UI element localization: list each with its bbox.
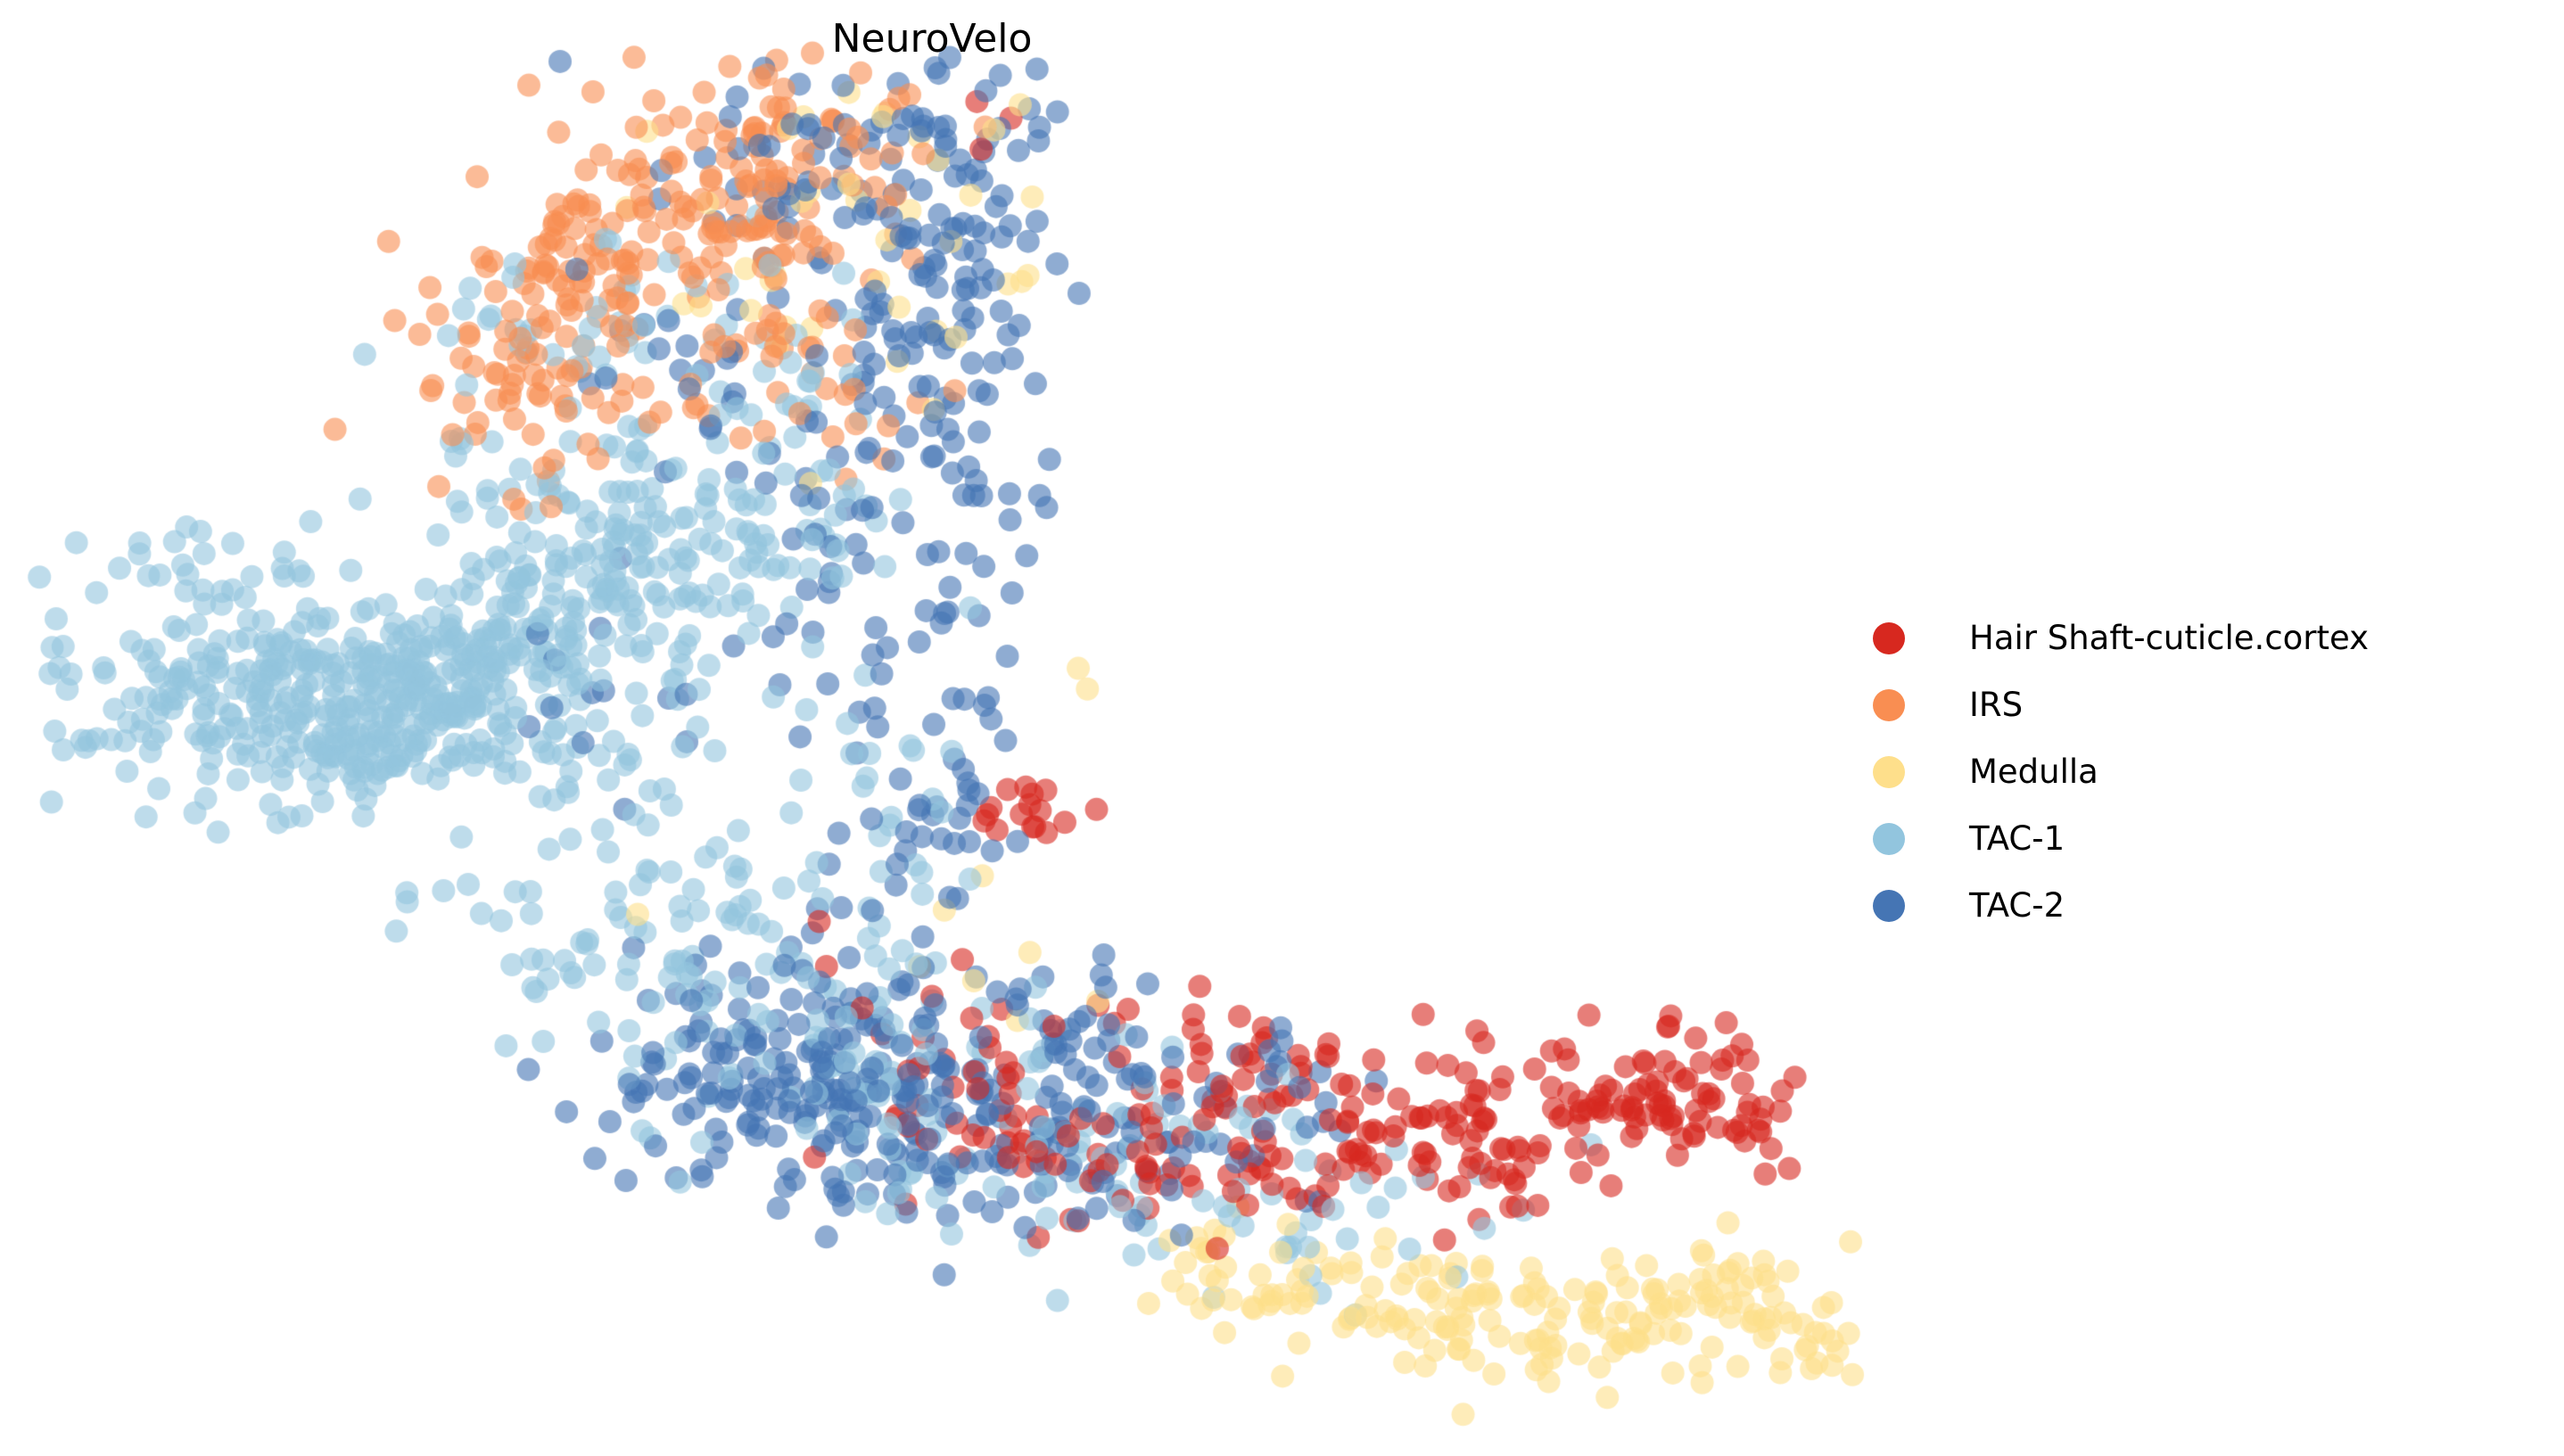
- legend-marker-tac-2-icon: [1873, 890, 1905, 922]
- legend-label: TAC-2: [1969, 889, 2065, 922]
- legend-marker-medulla-icon: [1873, 756, 1905, 788]
- legend-marker-irs-icon: [1873, 689, 1905, 721]
- legend: Hair Shaft-cuticle.cortexIRSMedullaTAC-1…: [1873, 605, 2533, 939]
- legend-marker-hair-shaft-cuticle-cortex-icon: [1873, 622, 1905, 654]
- legend-item-tac-2[interactable]: TAC-2: [1873, 872, 2533, 939]
- legend-item-irs[interactable]: IRS: [1873, 671, 2533, 738]
- legend-label: TAC-1: [1969, 822, 2065, 855]
- legend-item-tac-1[interactable]: TAC-1: [1873, 805, 2533, 872]
- legend-label: IRS: [1969, 688, 2023, 721]
- legend-label: Hair Shaft-cuticle.cortex: [1969, 621, 2369, 654]
- legend-marker-tac-1-icon: [1873, 823, 1905, 855]
- figure-canvas: NeuroVelo Hair Shaft-cuticle.cortexIRSMe…: [0, 0, 2564, 1456]
- legend-label: Medulla: [1969, 755, 2098, 788]
- legend-item-hair-shaft-cuticle-cortex[interactable]: Hair Shaft-cuticle.cortex: [1873, 605, 2533, 671]
- legend-item-medulla[interactable]: Medulla: [1873, 738, 2533, 805]
- page-title: NeuroVelo: [0, 20, 1864, 59]
